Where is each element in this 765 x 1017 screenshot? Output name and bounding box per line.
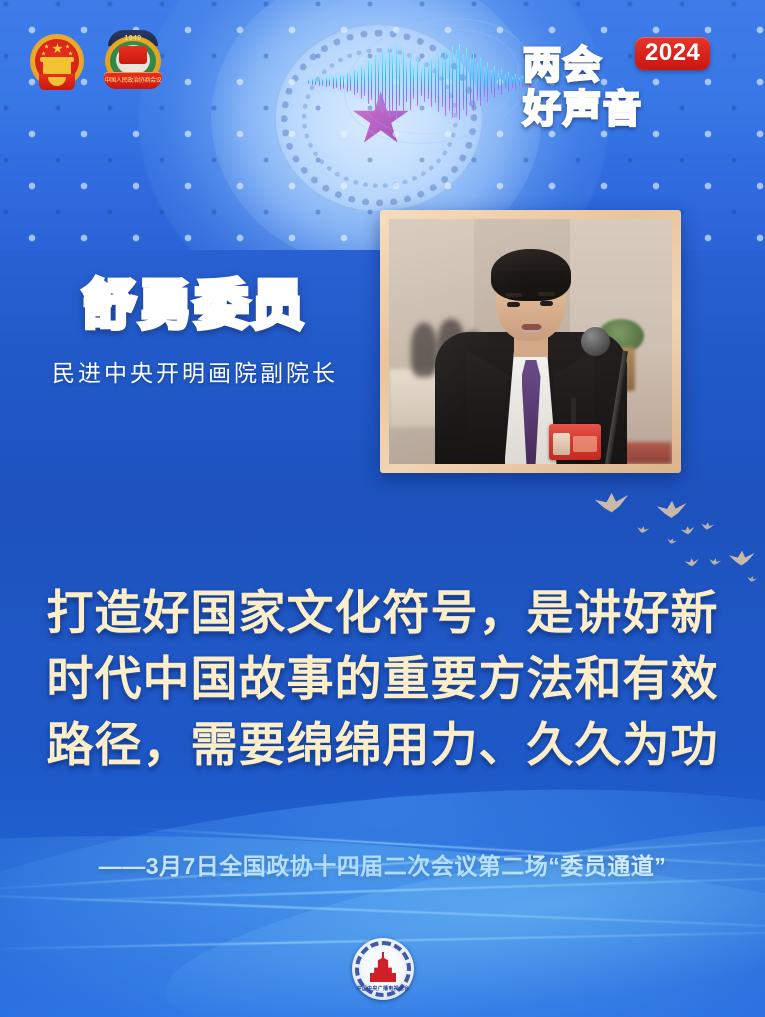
speaker-photo-frame [380,210,681,473]
speaker-name-block: 舒勇委员 民进中央开明画院副院长 [0,278,390,388]
dove-icon [594,490,630,515]
dove-flock-icon [585,480,765,590]
year-badge: 2024 [635,37,710,70]
credential-badge [549,424,601,460]
brand-line-2: 好声音 [523,78,643,133]
speaker-name: 舒勇委员 [0,278,390,334]
dove-icon [684,557,699,568]
dove-icon [656,499,687,520]
quote-text: 打造好国家文化符号，是讲好新 时代中国故事的重要方法和有效 路径，需要绵绵用力、… [0,580,765,777]
national-emblem-prc-icon [26,28,88,100]
emblem-group: 1949 中国人民政治协商会议 [26,28,164,100]
tv-station-emblem-text: 中国中央广播电视总台 [352,985,414,992]
cppcc-emblem-caption: 中国人民政治协商会议 [104,75,162,84]
tv-station-emblem-icon: 中国中央广播电视总台 [352,938,414,1000]
dove-icon [701,521,715,530]
dove-icon [729,549,756,566]
brand-logo: 两会 2024 好声音 [523,34,743,126]
poster-root: 1949 中国人民政治协商会议 两会 2024 好声音 舒勇委员 民进中央开明画… [0,0,765,1017]
speaker-photo [389,219,672,464]
cppcc-emblem-icon: 1949 中国人民政治协商会议 [102,28,164,100]
speaker-title: 民进中央开明画院副院长 [0,354,390,388]
cppcc-emblem-year: 1949 [102,35,164,42]
sound-wave-icon [308,44,538,120]
dove-icon [708,557,721,566]
quote-line: 打造好国家文化符号，是讲好新 [0,580,765,646]
quote-line: 时代中国故事的重要方法和有效 [0,646,765,712]
microphone-icon [581,327,610,356]
quote-line: 路径，需要绵绵用力、久久为功 [0,712,765,778]
dove-icon [666,537,677,545]
dove-icon [637,525,650,534]
dove-icon [680,525,695,536]
